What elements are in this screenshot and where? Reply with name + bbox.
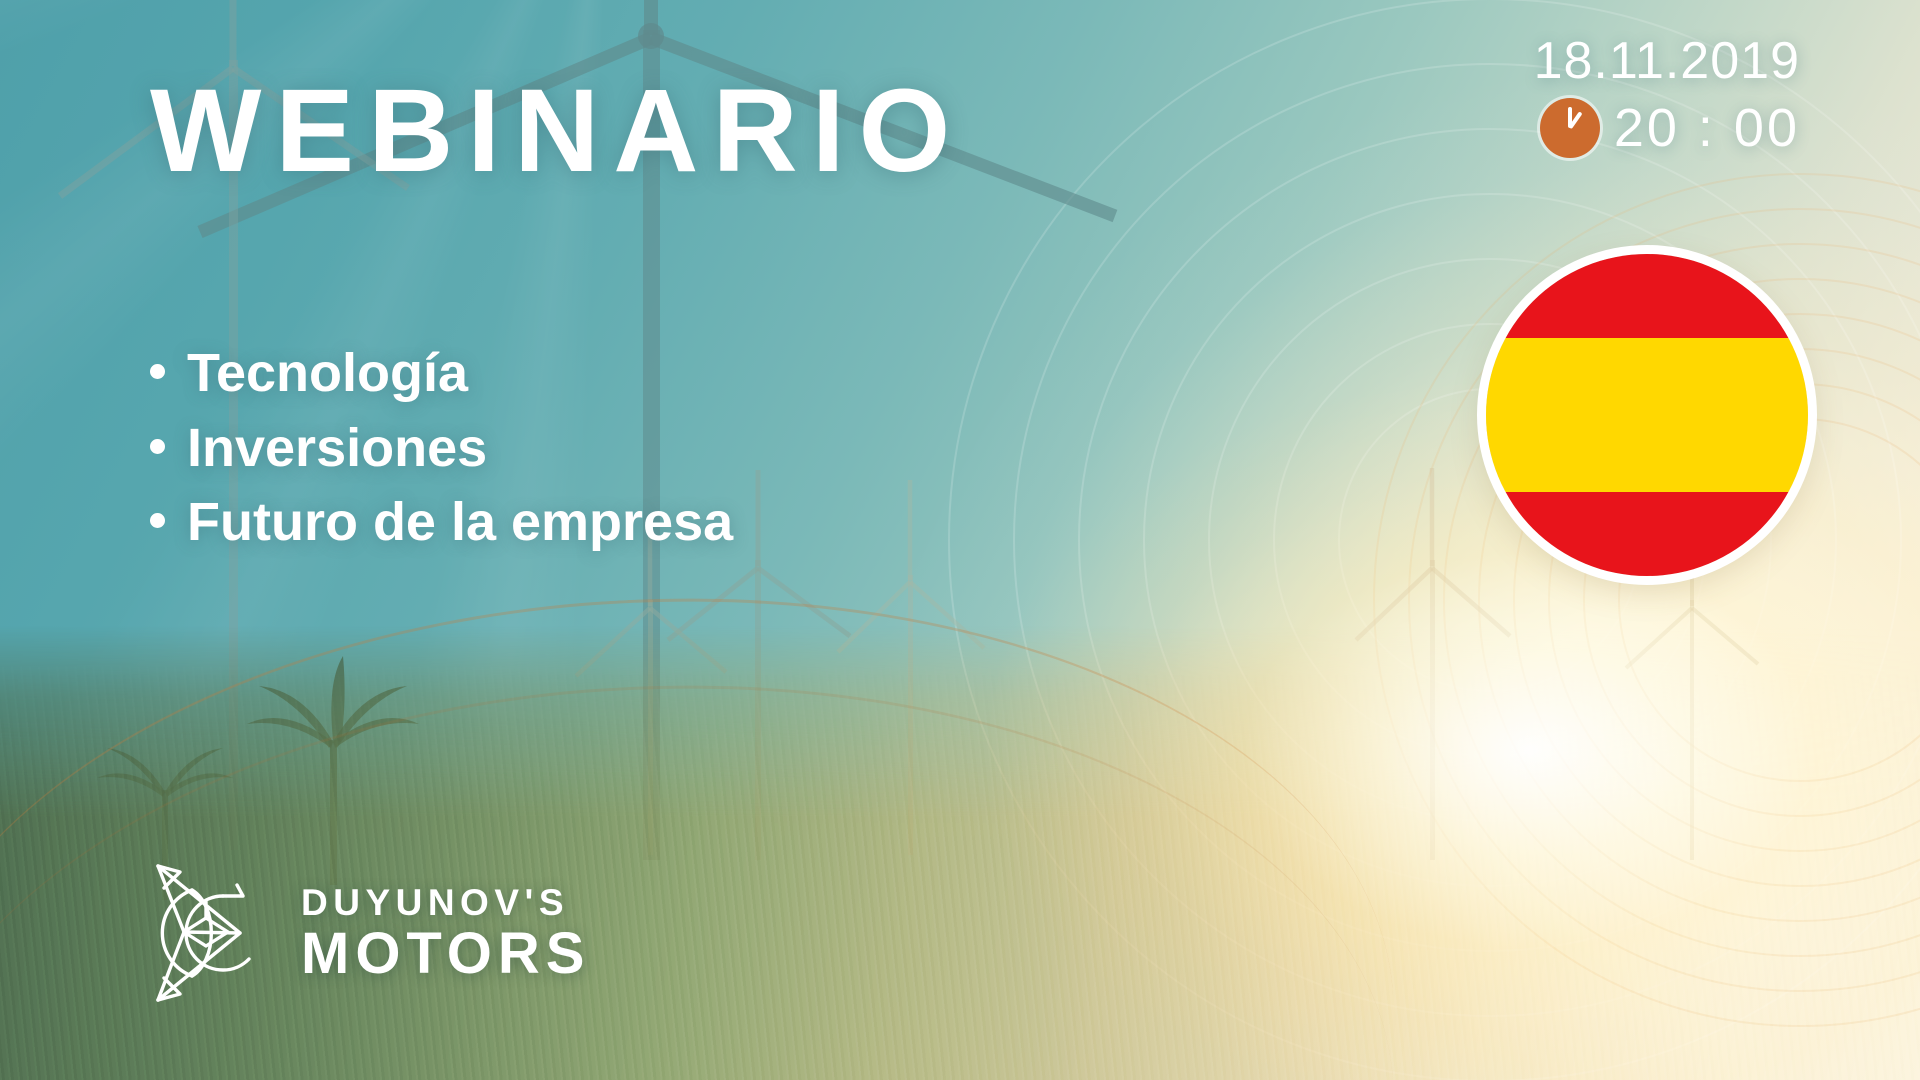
list-item: Tecnología: [150, 336, 733, 411]
webinar-banner: WEBINARIO 18.11.2019 20 : 00 Tecnología …: [0, 0, 1920, 1080]
bullet-dot-icon: [150, 364, 165, 379]
topic-label: Inversiones: [187, 411, 487, 486]
bullet-dot-icon: [150, 439, 165, 454]
bullet-dot-icon: [150, 513, 165, 528]
duyunov-motors-mark-icon: [140, 858, 275, 1008]
flag-stripe-middle: [1486, 338, 1808, 493]
brand-logo: DUYUNOV'S MOTORS: [140, 858, 591, 1008]
webinar-date: 18.11.2019: [1534, 34, 1800, 89]
flag-stripe-bottom: [1486, 492, 1808, 576]
topic-label: Tecnología: [187, 336, 468, 411]
brand-name-line2: MOTORS: [301, 925, 591, 983]
brand-logo-text: DUYUNOV'S MOTORS: [301, 884, 591, 983]
webinar-datetime: 18.11.2019 20 : 00: [1534, 34, 1800, 159]
webinar-time: 20 : 00: [1614, 97, 1800, 159]
list-item: Inversiones: [150, 411, 733, 486]
page-title: WEBINARIO: [150, 72, 964, 190]
list-item: Futuro de la empresa: [150, 485, 733, 560]
webinar-time-row: 20 : 00: [1534, 97, 1800, 159]
spain-flag-icon: [1486, 254, 1808, 576]
topic-label: Futuro de la empresa: [187, 485, 733, 560]
flag-stripe-top: [1486, 254, 1808, 338]
topics-list: Tecnología Inversiones Futuro de la empr…: [150, 336, 733, 560]
clock-icon: [1540, 98, 1600, 158]
brand-name-line1: DUYUNOV'S: [301, 884, 591, 921]
